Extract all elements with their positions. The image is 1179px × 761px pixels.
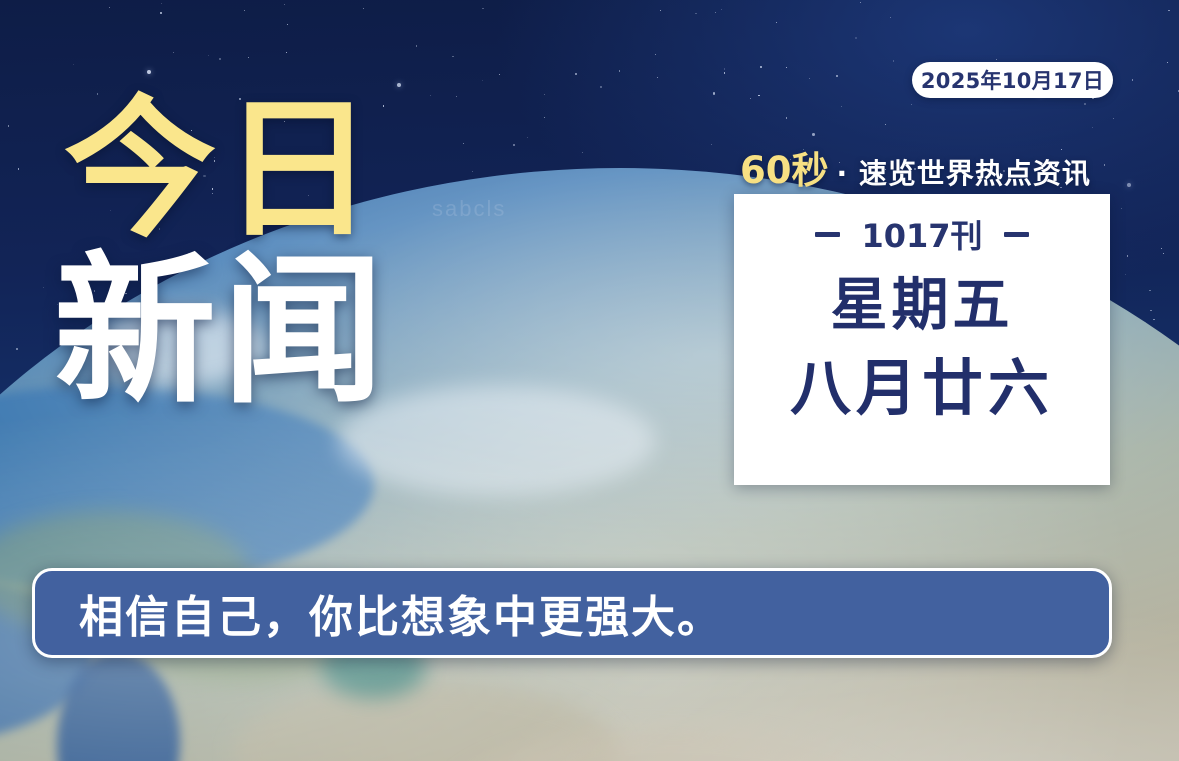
star-icon (452, 56, 453, 57)
star-icon (657, 77, 658, 78)
star-icon (890, 17, 891, 18)
star-icon (513, 144, 515, 146)
issue-number: 1017刊 (861, 211, 982, 257)
title-line-xinwen: 新闻 (54, 253, 390, 412)
star-icon (463, 143, 464, 144)
star-icon (544, 117, 545, 118)
star-icon (160, 12, 162, 14)
star-icon (8, 125, 9, 126)
star-icon (996, 59, 997, 60)
star-icon (430, 95, 431, 96)
star-icon (655, 54, 656, 55)
star-icon (284, 4, 285, 5)
star-icon (812, 133, 815, 136)
star-icon (363, 8, 364, 9)
tagline-highlight: 60秒 (740, 140, 829, 194)
star-icon (809, 78, 811, 80)
dash-right-icon (1004, 232, 1029, 237)
star-icon (841, 106, 842, 107)
star-icon (893, 60, 894, 61)
star-icon (527, 137, 528, 138)
date-badge-label: 2025年10月17日 (921, 65, 1104, 95)
lunar-date-label: 八月廿六 (790, 358, 1054, 419)
star-icon (619, 70, 620, 71)
star-icon (1167, 62, 1168, 63)
weekday-label: 星期五 (831, 277, 1014, 334)
star-icon (911, 104, 912, 105)
star-icon (456, 96, 458, 98)
star-icon (600, 86, 602, 88)
star-icon (219, 58, 221, 60)
star-icon (147, 70, 151, 74)
star-icon (715, 12, 716, 13)
star-icon (416, 45, 417, 46)
star-icon (1132, 79, 1133, 80)
title-line-jinri: 今日 (64, 96, 390, 245)
quote-text: 相信自己，你比想象中更强大。 (79, 581, 723, 645)
star-icon (750, 98, 751, 99)
star-icon (758, 95, 760, 97)
star-icon (482, 80, 483, 81)
star-icon (248, 57, 249, 58)
star-icon (73, 64, 74, 65)
star-icon (397, 83, 401, 87)
star-icon (724, 72, 725, 73)
watermark-text: sabcls (432, 196, 506, 222)
star-icon (786, 67, 787, 68)
star-icon (660, 10, 661, 11)
dash-left-icon (815, 232, 840, 237)
star-icon (724, 68, 726, 70)
star-icon (575, 73, 577, 75)
news-poster: sabcls 今日 新闻 2025年10月17日 60秒 · 速览世界热点资讯 … (0, 0, 1179, 761)
info-card: 1017刊 星期五 八月廿六 (734, 194, 1110, 485)
star-icon (1113, 118, 1114, 119)
star-icon (161, 3, 162, 4)
star-icon (860, 2, 861, 3)
star-icon (499, 74, 500, 75)
star-icon (1092, 127, 1093, 128)
star-icon (885, 124, 886, 125)
tagline: 60秒 · 速览世界热点资讯 (740, 140, 1115, 186)
star-icon (776, 22, 777, 23)
poster-title: 今日 新闻 (64, 96, 390, 412)
date-badge: 2025年10月17日 (912, 62, 1113, 98)
star-icon (208, 55, 209, 56)
star-icon (1084, 103, 1086, 105)
star-icon (109, 7, 110, 8)
star-icon (287, 24, 288, 25)
star-icon (855, 37, 857, 39)
quote-bar: 相信自己，你比想象中更强大。 (32, 568, 1112, 658)
star-icon (286, 52, 287, 53)
star-icon (482, 8, 484, 10)
star-icon (695, 13, 696, 14)
tagline-rest: · 速览世界热点资讯 (837, 152, 1091, 192)
star-icon (173, 52, 174, 53)
star-icon (1168, 10, 1170, 12)
star-icon (836, 75, 838, 77)
star-icon (721, 9, 722, 10)
star-icon (760, 66, 762, 68)
issue-row: 1017刊 (815, 211, 1028, 257)
star-icon (786, 117, 787, 118)
star-icon (244, 10, 245, 11)
star-icon (713, 92, 716, 95)
star-icon (544, 94, 545, 95)
